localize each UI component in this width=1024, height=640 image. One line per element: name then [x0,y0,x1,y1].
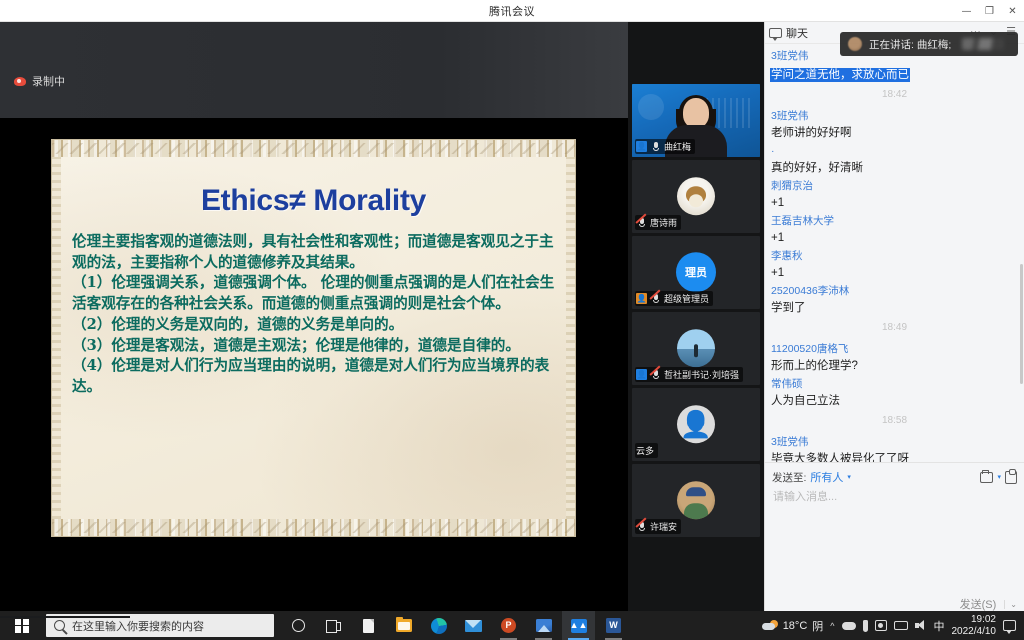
weather-temperature: 18°C [783,620,808,632]
participant-name: 曲红梅 [664,140,691,153]
message-sender: 王磊吉林大学 [771,213,1018,230]
message-text: +1 [771,195,1018,212]
mic-muted-icon [636,217,647,228]
onedrive-icon[interactable] [842,622,856,630]
chat-message: 11200520唐格飞 形而上的伦理学? [771,341,1018,375]
photos-icon[interactable] [527,611,560,640]
windows-taskbar: 在这里输入你要搜索的内容 P ▲▲ W 18°C 阴 ^ [0,611,1024,640]
file-explorer-icon[interactable] [387,611,420,640]
powerpoint-icon[interactable]: P [492,611,525,640]
volume-icon[interactable] [915,620,927,631]
message-timestamp: 18:42 [771,86,1018,104]
mic-muted-icon [650,369,661,380]
windows-logo-icon [15,619,29,633]
edge-icon[interactable] [422,611,455,640]
participant-name: 超级管理员 [664,292,709,305]
slide-paragraph: （4）伦理是对人们行为应当理由的说明，道德是对人们行为应当境界的表达。 [72,356,555,397]
screenshot-icon[interactable] [875,620,887,631]
message-sender: 常伟硕 [771,376,1018,393]
slide-border-right-ornament [566,157,575,519]
mail-icon[interactable] [457,611,490,640]
weather-condition: 阴 [812,618,823,634]
taskbar-app-icons: P ▲▲ W [282,611,630,640]
participant-tile[interactable]: 理员 👤 超级管理员 [632,236,760,309]
message-sender: 11200520唐格飞 [771,341,1018,358]
stage-top-bar [0,22,628,118]
file-upload-icon[interactable] [980,472,993,483]
message-timestamp: 18:49 [771,319,1018,337]
mic-muted-icon [636,521,647,532]
participant-person-figure [683,98,709,128]
screen-share-banner: 👤 曲红梅的屏幕共享 [0,616,130,618]
screen-share-label: 曲红梅的屏幕共享 [44,617,124,618]
recording-dot-icon [14,77,26,86]
clock-time: 19:02 [952,614,997,626]
word-icon[interactable]: W [597,611,630,640]
message-input[interactable]: 请输入消息... [772,486,1017,594]
message-text: 真的好好，好清晰 [771,160,1018,177]
notification-center-icon[interactable] [1003,620,1016,631]
message-text[interactable]: 学问之道无他，求放心而已 [771,69,909,81]
slide-paragraph: （1）伦理强调关系，道德强调个体。 伦理的侧重点强调的是人们在社会生活客观存在的… [72,273,555,314]
weather-cloud-icon [762,620,778,632]
close-button[interactable]: ✕ [1001,0,1024,22]
recording-indicator: 录制中 [14,73,65,89]
chat-message: 3班党伟 老师讲的好好啊 [771,108,1018,142]
avatar-initials: 理员 [685,264,707,280]
participant-tile[interactable]: 👤 哲社副书记·刘培强 [632,312,760,385]
minimize-button[interactable]: — [955,0,978,22]
message-sender: 刺猬京治 [771,178,1018,195]
mic-muted-icon [650,293,661,304]
participant-tile[interactable]: 许瑞安 [632,464,760,537]
cortana-icon[interactable] [282,611,315,640]
chat-compose-area: 发送至: 所有人 ▾ ▾ 请输入消息... 发送(S) ⌄ [765,462,1024,618]
avatar: 理员 [676,252,716,292]
avatar [677,177,715,215]
host-icon: 👤 [636,293,647,304]
message-text: 老师讲的好好啊 [771,125,1018,142]
chat-message: 刺猬京治 +1 [771,178,1018,212]
task-view-icon[interactable] [317,611,350,640]
slide-paragraph: （3）伦理是客观法，道德是主观法；伦理是他律的，道德是自律的。 [72,336,555,357]
mic-on-icon [650,141,661,152]
participant-name: 唐诗雨 [650,216,677,229]
participant-name: 哲社副书记·刘培强 [664,368,739,381]
slide-content: Ethics≠ Morality 伦理主要指客观的道德法则，具有社会性和客观性；… [66,162,561,398]
avatar: 👤 [677,405,715,443]
participant-label: 唐诗雨 [635,215,681,230]
send-options-chevron-icon[interactable]: ⌄ [1004,600,1017,609]
slide-border-left-ornament [52,157,61,519]
participant-name: 云多 [636,444,654,457]
keyboard-icon[interactable] [894,621,908,630]
message-text: 人为自己立法 [771,393,1018,410]
chat-scrollbar[interactable] [1020,264,1023,384]
shared-screen-stage: 录制中 Ethics≠ Morality 伦理主要指客观的道德法则，具有社会性和… [0,22,628,618]
message-text: +1 [771,265,1018,282]
message-sender: · [771,143,1018,160]
default-user-icon: 👤 [677,405,715,443]
window-titlebar: 腾讯会议 — ❐ ✕ [0,0,1024,22]
blurred-name-overlay [962,38,1004,50]
send-to-dropdown[interactable]: 所有人 [810,469,843,485]
system-tray: 18°C 阴 ^ 中 19:02 2022/4/10 [762,614,1024,638]
search-placeholder: 在这里输入你要搜索的内容 [72,618,204,634]
chevron-down-icon[interactable]: ▾ [847,473,851,481]
speaker-avatar [848,37,862,51]
tencent-meeting-icon[interactable]: ▲▲ [562,611,595,640]
avatar [677,329,715,367]
speaking-label: 正在讲话: 曲红梅; [869,37,951,52]
participant-tile[interactable]: 👤 云多 [632,388,760,461]
participant-tile[interactable]: 唐诗雨 [632,160,760,233]
message-text: 形而上的伦理学? [771,358,1018,375]
message-sender: 李惠秋 [771,248,1018,265]
message-sender: 25200436李沛林 [771,283,1018,300]
tencent-meeting-window: 腾讯会议 — ❐ ✕ 录制中 Ethics≠ Morality 伦理主要指客观的… [0,0,1024,640]
participant-label: 许瑞安 [635,519,681,534]
slide-border-bottom-ornament [52,519,575,536]
message-timestamp: 18:58 [771,412,1018,430]
clipboard-icon[interactable] [1005,471,1017,484]
taskbar-clock[interactable]: 19:02 2022/4/10 [952,614,997,638]
window-controls: — ❐ ✕ [955,0,1024,22]
compose-toolbar: 发送至: 所有人 ▾ ▾ [772,468,1017,486]
chat-message: 3班党伟 毕竟大多数人被异化了了呀 [771,434,1018,462]
speaking-toast: 正在讲话: 曲红梅; [840,32,1018,56]
participant-label: 👤 哲社副书记·刘培强 [635,367,743,382]
chat-message: 李惠秋 +1 [771,248,1018,282]
clock-date: 2022/4/10 [952,626,997,638]
participant-filmstrip[interactable]: 👤 曲红梅 唐诗雨 理员 👤 超级管理员 [628,22,764,618]
message-text: 毕竟大多数人被异化了了呀 [771,451,1018,462]
message-text: 学到了 [771,300,1018,317]
chat-message: · 真的好好，好清晰 [771,143,1018,177]
slide-body: 伦理主要指客观的道德法则，具有社会性和客观性；而道德是客观见之于主观的法，主要指… [66,232,561,398]
recording-label: 录制中 [32,73,65,89]
maximize-button[interactable]: ❐ [978,0,1001,22]
participant-icon: 👤 [636,141,647,152]
show-hidden-icons-icon[interactable]: ^ [830,621,834,631]
message-sender: 3班党伟 [771,434,1018,451]
participant-label: 👤 曲红梅 [635,139,695,154]
chat-icon [769,28,782,38]
message-sender: 3班党伟 [771,108,1018,125]
weather-widget[interactable]: 18°C 阴 [762,618,824,634]
chat-message: 25200436李沛林 学到了 [771,283,1018,317]
window-title: 腾讯会议 [489,3,535,19]
slide-border-top-ornament [52,140,575,157]
chevron-down-icon[interactable]: ▾ [997,473,1001,481]
ime-indicator[interactable]: 中 [934,618,945,634]
participant-label: 云多 [635,443,658,458]
avatar [677,481,715,519]
presentation-slide: Ethics≠ Morality 伦理主要指客观的道德法则，具有社会性和客观性；… [52,140,575,536]
send-to-label: 发送至: [772,470,806,485]
chat-message: 王磊吉林大学 +1 [771,213,1018,247]
chat-message-list[interactable]: 3班党伟 学问之道无他，求放心而已 18:42 3班党伟 老师讲的好好啊 · 真… [765,44,1024,462]
slide-paragraph: （2）伦理的义务是双向的，道德的义务是单向的。 [72,315,555,336]
document-icon[interactable] [352,611,385,640]
participant-icon: 👤 [636,369,647,380]
slide-title: Ethics≠ Morality [66,184,561,218]
participant-label: 👤 超级管理员 [635,291,713,306]
chat-panel: 聊天 ··· ⌄ ☰ 3班党伟 学问之道无他，求放心而已 18:42 3班党伟 … [764,22,1024,618]
chat-title: 聊天 [786,25,808,41]
pen-icon[interactable] [863,620,868,632]
message-text: +1 [771,230,1018,247]
participant-tile[interactable]: 👤 曲红梅 [632,84,760,157]
participant-name: 许瑞安 [650,520,677,533]
search-icon [54,620,65,631]
slide-paragraph: 伦理主要指客观的道德法则，具有社会性和客观性；而道德是客观见之于主观的法，主要指… [72,232,555,273]
chat-message: 常伟硕 人为自己立法 [771,376,1018,410]
